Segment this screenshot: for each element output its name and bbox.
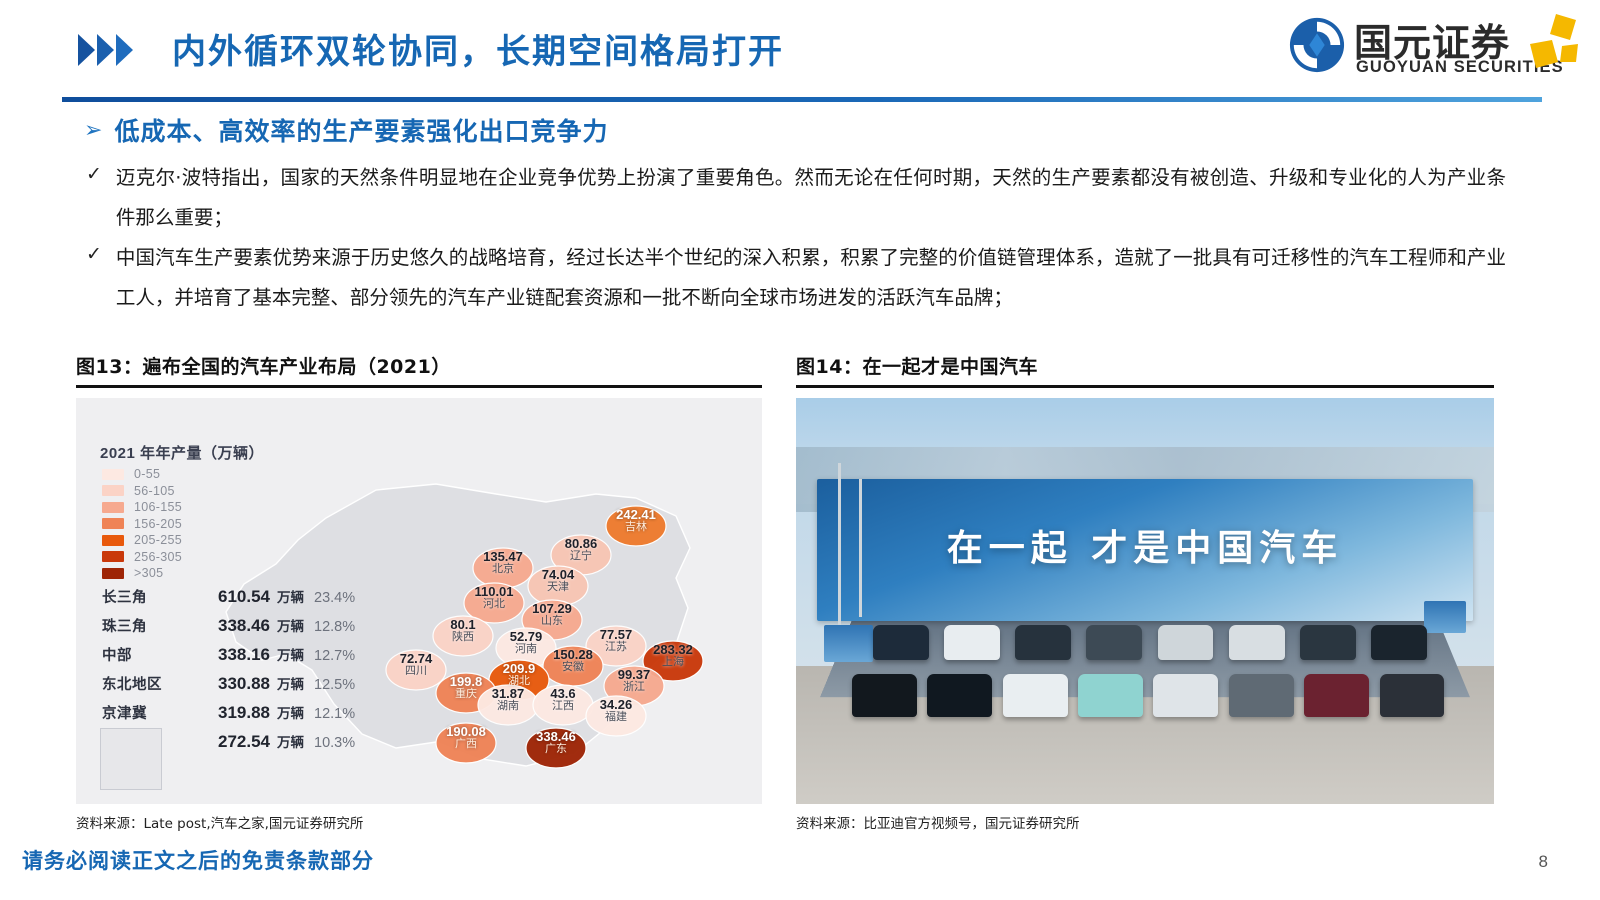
car: [1371, 625, 1427, 660]
region-row: 中部338.16万辆12.7%: [102, 644, 355, 673]
region-unit: 万辆: [277, 586, 304, 606]
province-value: 34.26: [576, 698, 656, 712]
map-legend-row: >305: [102, 565, 182, 582]
car: [944, 625, 1000, 660]
province-value: 209.9: [479, 662, 559, 676]
province-label: 283.32上海: [633, 643, 713, 669]
car: [1015, 625, 1071, 660]
region-value: 338.16: [198, 645, 270, 665]
province-label: 107.29山东: [512, 602, 592, 628]
region-name: 长三角: [102, 586, 198, 607]
province-value: 110.01: [454, 585, 534, 599]
car: [1304, 674, 1369, 717]
china-production-map: 2021 年年产量（万辆） 0-5556-105106-155156-20520…: [76, 398, 762, 804]
region-unit: 万辆: [277, 644, 304, 664]
footer-disclaimer: 请务必阅读正文之后的免责条款部分: [22, 845, 374, 875]
car: [1229, 625, 1285, 660]
region-unit: 万辆: [277, 673, 304, 693]
figure-13-underline: [76, 385, 762, 388]
car: [1078, 674, 1143, 717]
legend-label: 56-105: [134, 484, 175, 498]
legend-label: 106-155: [134, 500, 182, 514]
region-name: 中部: [102, 644, 198, 665]
province-value: 338.46: [516, 730, 596, 744]
arrow-bullet-icon: ➢: [84, 119, 102, 141]
province-name: 山东: [512, 616, 592, 628]
province-value: 135.47: [463, 550, 543, 564]
car: [1380, 674, 1445, 717]
province-value: 80.86: [541, 537, 621, 551]
region-row: 长三角610.54万辆23.4%: [102, 586, 355, 615]
body-bullet-1-text: 迈克尔·波特指出，国家的天然条件明显地在企业竞争优势上扮演了重要角色。然而无论在…: [116, 158, 1506, 238]
region-value: 272.54: [198, 732, 270, 752]
slide-header: 内外循环双轮协同，长期空间格局打开 国元证券 GUOYUAN SECURITIE…: [0, 0, 1600, 100]
car: [1158, 625, 1214, 660]
map-legend-row: 256-305: [102, 549, 182, 566]
region-share: 23.4%: [314, 590, 355, 606]
figure-14: 图14：在一起才是中国汽车 在一起 才是中国汽车 资料来源：比亚迪官方视频号，国…: [796, 352, 1494, 832]
guoyuan-mark-icon: [1288, 16, 1346, 74]
byd-event-photo: 在一起 才是中国汽车: [796, 398, 1494, 804]
legend-swatch: [102, 568, 124, 579]
province-value: 52.79: [486, 630, 566, 644]
chevron-decoration-icon: [78, 34, 133, 66]
region-row: 珠三角338.46万辆12.8%: [102, 615, 355, 644]
banner-slogan: 在一起 才是中国汽车: [817, 519, 1473, 571]
province-label: 34.26福建: [576, 698, 656, 724]
province-value: 242.41: [596, 508, 676, 522]
figure-14-source: 资料来源：比亚迪官方视频号，国元证券研究所: [796, 812, 1494, 832]
car: [852, 674, 917, 717]
region-unit: 万辆: [277, 615, 304, 635]
region-name: 珠三角: [102, 615, 198, 636]
province-value: 150.28: [533, 648, 613, 662]
province-name: 辽宁: [541, 551, 621, 563]
province-value: 77.57: [576, 628, 656, 642]
legend-swatch: [102, 485, 124, 496]
region-name: 京津冀: [102, 702, 198, 723]
car: [1300, 625, 1356, 660]
check-bullet-icon: ✓: [86, 158, 102, 238]
figure-14-underline: [796, 385, 1494, 388]
province-label: 99.37浙江: [594, 668, 674, 694]
gold-leaf-icon: [1526, 14, 1578, 76]
map-legend-title: 2021 年年产量（万辆）: [100, 442, 264, 463]
car: [1153, 674, 1218, 717]
province-name: 吉林: [596, 522, 676, 534]
map-legend-row: 205-255: [102, 532, 182, 549]
car: [1003, 674, 1068, 717]
province-value: 74.04: [518, 568, 598, 582]
region-value: 330.88: [198, 674, 270, 694]
car: [1229, 674, 1294, 717]
province-name: 浙江: [594, 682, 674, 694]
section-subheading-text: 低成本、高效率的生产要素强化出口竞争力: [114, 112, 608, 148]
region-name: 东北地区: [102, 673, 198, 694]
region-value: 338.46: [198, 616, 270, 636]
province-label: 190.08广西: [426, 725, 506, 751]
region-share: 10.3%: [314, 735, 355, 751]
legend-swatch: [102, 502, 124, 513]
legend-swatch: [102, 535, 124, 546]
check-bullet-icon: ✓: [86, 238, 102, 318]
province-value: 107.29: [512, 602, 592, 616]
body-bullet-2: ✓ 中国汽车生产要素优势来源于历史悠久的战略培育，经过长达半个世纪的深入积累，积…: [86, 238, 1506, 318]
region-value: 319.88: [198, 703, 270, 723]
section-subheading: ➢ 低成本、高效率的生产要素强化出口竞争力: [84, 112, 608, 148]
figure-13-title: 图13：遍布全国的汽车产业布局（2021）: [76, 352, 762, 379]
company-logo: 国元证券 GUOYUAN SECURITIES: [1278, 8, 1578, 86]
region-share: 12.5%: [314, 677, 355, 693]
region-share: 12.7%: [314, 648, 355, 664]
province-label: 242.41吉林: [596, 508, 676, 534]
province-name: 广西: [426, 739, 506, 751]
region-share: 12.1%: [314, 706, 355, 722]
legend-label: 0-55: [134, 467, 160, 481]
region-row: 东北地区330.88万辆12.5%: [102, 673, 355, 702]
region-share: 12.8%: [314, 619, 355, 635]
figure-13-source: 资料来源：Late post,汽车之家,国元证券研究所: [76, 812, 762, 832]
map-legend-row: 56-105: [102, 483, 182, 500]
legend-swatch: [102, 551, 124, 562]
side-banner: [1424, 601, 1466, 633]
header-rule: [62, 97, 1542, 102]
region-value: 610.54: [198, 587, 270, 607]
slide-page: 内外循环双轮协同，长期空间格局打开 国元证券 GUOYUAN SECURITIE…: [0, 0, 1600, 900]
figure-14-title: 图14：在一起才是中国汽车: [796, 352, 1494, 379]
page-number: 8: [1539, 852, 1548, 872]
legend-swatch: [102, 518, 124, 529]
region-unit: 万辆: [277, 731, 304, 751]
car: [1086, 625, 1142, 660]
province-name: 福建: [576, 712, 656, 724]
legend-label: 256-305: [134, 550, 182, 564]
province-name: 广东: [516, 744, 596, 756]
legend-label: 205-255: [134, 533, 182, 547]
map-legend-row: 156-205: [102, 516, 182, 533]
body-bullet-1: ✓ 迈克尔·波特指出，国家的天然条件明显地在企业竞争优势上扮演了重要角色。然而无…: [86, 158, 1506, 238]
province-value: 72.74: [376, 652, 456, 666]
page-title: 内外循环双轮协同，长期空间格局打开: [172, 24, 784, 73]
region-unit: 万辆: [277, 702, 304, 722]
side-banner: [824, 625, 873, 662]
legend-label: 156-205: [134, 517, 182, 531]
province-value: 190.08: [426, 725, 506, 739]
map-legend-row: 106-155: [102, 499, 182, 516]
province-value: 283.32: [633, 643, 713, 657]
south-sea-inset: [100, 728, 162, 790]
province-label: 338.46广东: [516, 730, 596, 756]
flagpole-icon: [838, 463, 841, 625]
body-bullet-2-text: 中国汽车生产要素优势来源于历史悠久的战略培育，经过长达半个世纪的深入积累，积累了…: [116, 238, 1506, 318]
car: [927, 674, 992, 717]
car: [873, 625, 929, 660]
flagpole-icon: [859, 479, 862, 617]
photo-banner: 在一起 才是中国汽车: [817, 479, 1473, 621]
figure-13: 图13：遍布全国的汽车产业布局（2021） 2021 年年产量（万辆） 0-55…: [76, 352, 762, 832]
map-legend-row: 0-55: [102, 466, 182, 483]
map-legend: 0-5556-105106-155156-205205-255256-305>3…: [102, 466, 182, 582]
legend-label: >305: [134, 566, 163, 580]
legend-swatch: [102, 469, 124, 480]
region-row: 京津冀319.88万辆12.1%: [102, 702, 355, 731]
province-label: 80.86辽宁: [541, 537, 621, 563]
province-value: 99.37: [594, 668, 674, 682]
